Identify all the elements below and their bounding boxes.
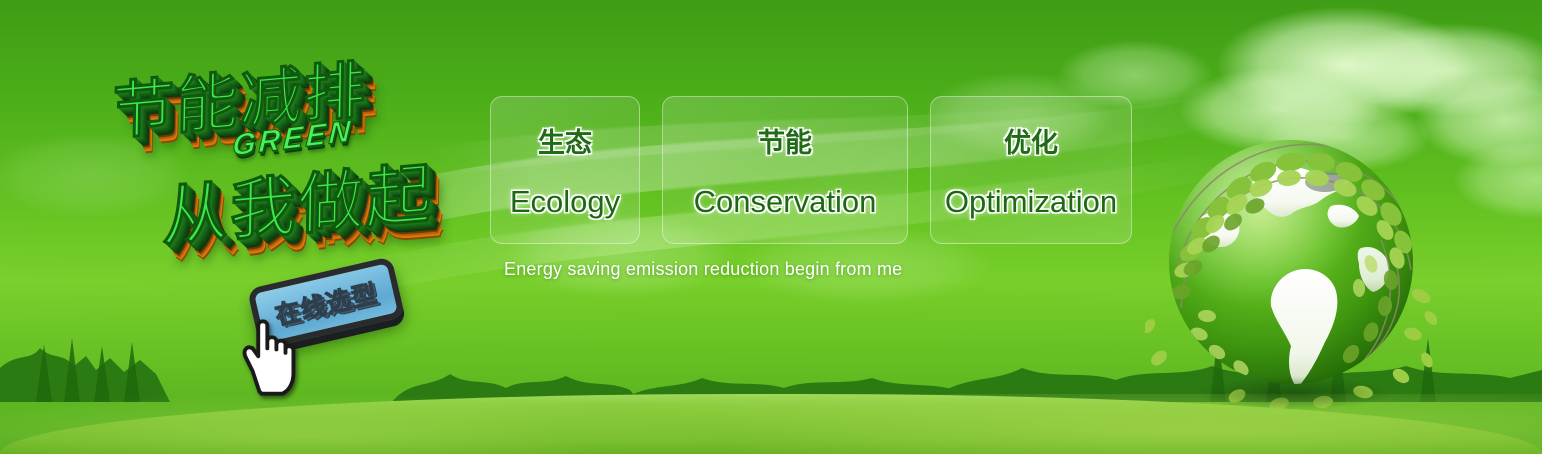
feature-card-title-cn: 生态 [538, 121, 592, 160]
hero-banner: 节能减排 GREEN 从我做起 在线选型 生态 Ecology 节能 Conse… [0, 0, 1542, 454]
headline-3d-logo: 节能减排 GREEN 从我做起 [104, 36, 504, 266]
feature-card-title-cn: 优化 [1004, 121, 1058, 160]
feature-card-title-en: Optimization [945, 184, 1117, 220]
feature-card-optimization[interactable]: 优化 Optimization [930, 96, 1132, 244]
feature-card-list: 生态 Ecology 节能 Conservation 优化 Optimizati… [490, 96, 1132, 244]
feature-card-title-en: Conservation [694, 184, 877, 220]
globe-ground-shadow [1159, 370, 1429, 416]
headline-line-2: 从我做起 [162, 140, 435, 260]
feature-card-ecology[interactable]: 生态 Ecology [490, 96, 640, 244]
leafy-earth-globe [1145, 120, 1437, 420]
feature-card-conservation[interactable]: 节能 Conservation [662, 96, 908, 244]
feature-card-title-cn: 节能 [758, 121, 812, 160]
hand-pointer-icon [236, 312, 310, 396]
feature-card-title-en: Ecology [510, 184, 620, 220]
banner-tagline: Energy saving emission reduction begin f… [504, 259, 902, 280]
